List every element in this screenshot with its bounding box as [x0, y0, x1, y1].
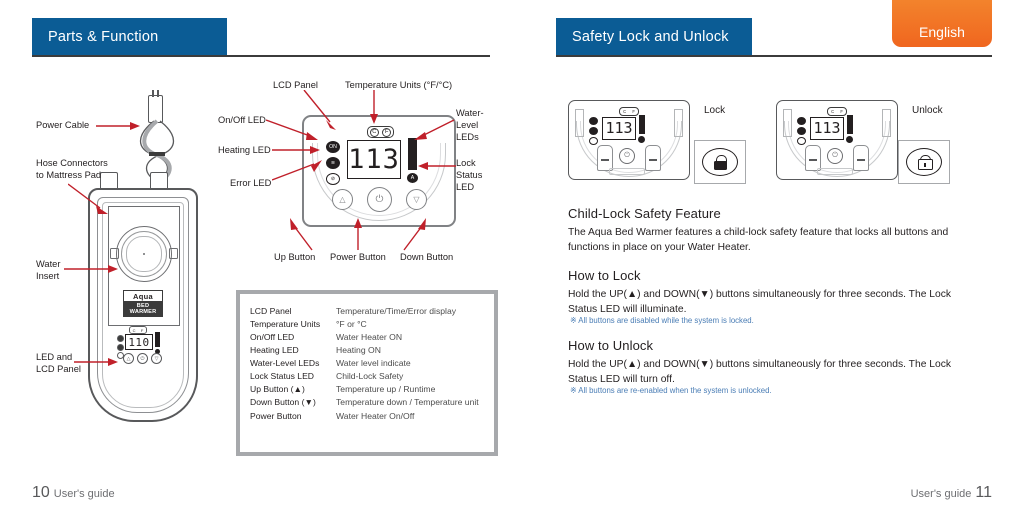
- status-led-group: ON ≋ ⊘: [326, 141, 340, 189]
- unlock-panel-pad-right: [853, 145, 869, 171]
- mini-water-level-bar: [155, 332, 160, 347]
- unit-mini-panel: C F 110 △ ⏻ ▽: [117, 330, 169, 360]
- callout-lock-status-led: Lock Status LED: [456, 158, 482, 194]
- left-header-rule: [32, 55, 490, 57]
- body-how-to-lock: Hold the UP(▲) and DOWN(▼) buttons simul…: [568, 288, 982, 317]
- unit-celsius: C: [370, 128, 379, 137]
- legend-row: Water-Level LEDs Water level indicate: [250, 357, 486, 370]
- legend-description: °F or °C: [336, 318, 367, 331]
- unlock-unit-f: F: [840, 109, 843, 114]
- lcd-value: 113: [348, 146, 400, 173]
- water-level-led-bar: [408, 138, 417, 170]
- legend-description: Temperature/Time/Error display: [336, 305, 456, 318]
- heating-led: ≋: [326, 157, 340, 169]
- mini-unit-c: C: [133, 328, 136, 333]
- right-header-rule: [556, 55, 992, 57]
- legend-term: Temperature Units: [250, 318, 336, 331]
- right-header-title: Safety Lock and Unlock: [556, 29, 729, 45]
- arrow-temperature-units: [368, 90, 380, 126]
- padlock-open-icon: [918, 155, 931, 170]
- callout-on-off-led: On/Off LED: [218, 115, 266, 127]
- brand-name-bottom: BED WARMER: [123, 302, 163, 317]
- lock-state-panel: C F 113 ⏻: [568, 100, 690, 180]
- legend-term: Power Button: [250, 410, 336, 423]
- mini-on-off-led: [117, 335, 124, 342]
- heading-child-lock: Child-Lock Safety Feature: [568, 206, 721, 221]
- arrow-power-cable: [96, 118, 142, 134]
- brand-logo: Aqua BED WARMER: [123, 290, 163, 317]
- legend-description: Water Heater On/Off: [336, 410, 414, 423]
- lock-unit-c: C: [623, 109, 626, 114]
- legend-description: Child-Lock Safety: [336, 370, 403, 383]
- callout-up-button: Up Button: [274, 252, 315, 264]
- lock-panel-lcd-value: 113: [605, 121, 632, 136]
- callout-temperature-units: Temperature Units (°F/°C): [345, 80, 452, 92]
- error-led: ⊘: [326, 173, 340, 185]
- legend-description: Temperature down / Temperature unit: [336, 396, 479, 409]
- callout-water-insert: Water Insert: [36, 259, 60, 283]
- down-button[interactable]: ▽: [406, 189, 427, 210]
- arrow-up-button: [288, 218, 318, 252]
- unlock-panel-lock-led: [846, 136, 853, 143]
- legend-row: Temperature Units °F or °C: [250, 318, 486, 331]
- note-how-to-lock: ※ All buttons are disabled while the sys…: [570, 316, 984, 326]
- power-button[interactable]: ⏻: [367, 187, 392, 212]
- unlock-panel-on-off-led: [797, 117, 806, 125]
- callout-heating-led: Heating LED: [218, 145, 271, 157]
- mini-unit-f: F: [141, 328, 143, 333]
- legend-term: LCD Panel: [250, 305, 336, 318]
- legend-term: On/Off LED: [250, 331, 336, 344]
- lock-panel-heating-led: [589, 127, 598, 135]
- mini-lock-icon-right: [169, 248, 178, 259]
- arrow-led-lcd-panel: [74, 356, 120, 368]
- heading-how-to-unlock: How to Unlock: [568, 338, 653, 353]
- callout-water-level-leds: Water- Level LEDs: [456, 108, 484, 144]
- body-child-lock: The Aqua Bed Warmer features a child-loc…: [568, 226, 982, 255]
- lock-panel-led-group: [589, 117, 598, 147]
- lock-icon-box: [694, 140, 746, 184]
- unlock-icon-box: [898, 140, 950, 184]
- right-footer-label: User's guide: [911, 488, 972, 500]
- arrow-hose-connectors: [68, 182, 116, 218]
- up-button[interactable]: △: [332, 189, 353, 210]
- language-tab[interactable]: English: [892, 0, 992, 47]
- arrow-water-insert: [64, 263, 120, 275]
- unlock-panel-heating-led: [797, 127, 806, 135]
- mini-lcd-value: 110: [128, 337, 149, 348]
- arrow-on-off-led: [266, 118, 324, 144]
- mini-lcd-panel: 110: [125, 334, 153, 350]
- water-heater-body: Aqua BED WARMER C F 110: [88, 188, 198, 422]
- left-page: Parts & Function: [0, 0, 500, 524]
- unlock-panel-lcd: 113: [810, 117, 844, 140]
- parts-legend-table: LCD Panel Temperature/Time/Error display…: [236, 290, 498, 456]
- padlock-closed-icon: [714, 155, 727, 170]
- unlock-panel-lcd-value: 113: [813, 121, 840, 136]
- callout-down-button: Down Button: [400, 252, 453, 264]
- left-section-header: Parts & Function: [32, 18, 227, 56]
- legend-row: Heating LED Heating ON: [250, 344, 486, 357]
- left-header-title: Parts & Function: [32, 29, 158, 45]
- lock-panel-on-off-led: [589, 117, 598, 125]
- legend-term: Water-Level LEDs: [250, 357, 336, 370]
- legend-row: On/Off LED Water Heater ON: [250, 331, 486, 344]
- legend-row: Lock Status LED Child-Lock Safety: [250, 370, 486, 383]
- callout-power-cable: Power Cable: [36, 120, 89, 132]
- legend-term: Lock Status LED: [250, 370, 336, 383]
- legend-description: Water Heater ON: [336, 331, 402, 344]
- lock-label: Lock: [704, 105, 725, 116]
- note-how-to-unlock: ※ All buttons are re-enabled when the sy…: [570, 386, 984, 396]
- lock-status-led: A: [407, 173, 418, 183]
- left-page-number: 10: [32, 484, 50, 502]
- temperature-units-indicator: C F: [367, 126, 394, 138]
- legend-description: Water level indicate: [336, 357, 411, 370]
- arrow-heating-led: [272, 144, 324, 156]
- legend-row: Power Button Water Heater On/Off: [250, 410, 486, 423]
- on-off-led: ON: [326, 141, 340, 153]
- lock-unit-f: F: [632, 109, 635, 114]
- mini-up-button: △: [123, 353, 134, 364]
- unlock-panel-led-group: [797, 117, 806, 147]
- arrow-water-level-leds: [414, 118, 458, 142]
- unlock-panel-water-bar: [847, 115, 853, 134]
- unlock-panel-error-led: [797, 137, 806, 145]
- lock-panel-pad-right: [645, 145, 661, 171]
- unlock-panel-temp-units: C F: [827, 107, 847, 116]
- left-footer-label: User's guide: [54, 488, 115, 500]
- unlock-state-panel: C F 113 ⏻: [776, 100, 898, 180]
- mini-down-button: ▽: [151, 353, 162, 364]
- lock-panel-lock-led: [638, 136, 645, 143]
- unit-fahrenheit: F: [382, 128, 391, 137]
- lcd-panel: 113: [347, 140, 401, 179]
- mini-power-button: ⏻: [137, 353, 148, 364]
- right-section-header: Safety Lock and Unlock: [556, 18, 752, 56]
- callout-power-button: Power Button: [330, 252, 386, 264]
- lock-panel-error-led: [589, 137, 598, 145]
- unlock-unit-c: C: [831, 109, 834, 114]
- legend-term: Up Button (▲): [250, 383, 336, 396]
- mini-heating-led: [117, 344, 124, 351]
- right-page: Safety Lock and Unlock English C F 113 ⏻…: [524, 0, 1024, 524]
- legend-description: Temperature up / Runtime: [336, 383, 435, 396]
- body-how-to-unlock: Hold the UP(▲) and DOWN(▼) buttons simul…: [568, 358, 982, 387]
- left-page-footer: 10 User's guide: [32, 484, 115, 502]
- legend-row: Down Button (▼) Temperature down / Tempe…: [250, 396, 486, 409]
- legend-row: Up Button (▲) Temperature up / Runtime: [250, 383, 486, 396]
- unlock-panel-power-button: ⏻: [827, 148, 843, 164]
- right-page-number: 11: [975, 484, 992, 502]
- legend-term: Down Button (▼): [250, 396, 336, 409]
- button-group: △ ⏻ ▽: [332, 187, 427, 212]
- legend-description: Heating ON: [336, 344, 381, 357]
- lock-panel-power-button: ⏻: [619, 148, 635, 164]
- legend-term: Heating LED: [250, 344, 336, 357]
- right-page-footer: User's guide 11: [911, 484, 992, 502]
- mini-temp-units: C F: [129, 326, 147, 334]
- brand-name-top: Aqua: [123, 290, 163, 302]
- lock-panel-lcd: 113: [602, 117, 636, 140]
- heading-how-to-lock: How to Lock: [568, 268, 641, 283]
- unlock-label: Unlock: [912, 105, 943, 116]
- arrow-power-button: [352, 218, 364, 252]
- arrow-down-button: [398, 218, 428, 252]
- mini-lock-icon-left: [110, 248, 119, 259]
- language-tab-label: English: [919, 24, 965, 47]
- arrow-lock-status-led: [418, 160, 458, 172]
- lock-panel-water-bar: [639, 115, 645, 134]
- arrow-error-led: [272, 158, 324, 184]
- callout-hose-connectors: Hose Connectors to Mattress Pad: [36, 158, 108, 182]
- water-insert-port: [116, 226, 172, 282]
- lock-panel-temp-units: C F: [619, 107, 639, 116]
- mini-button-group: △ ⏻ ▽: [123, 353, 162, 364]
- legend-row: LCD Panel Temperature/Time/Error display: [250, 305, 486, 318]
- callout-error-led: Error LED: [230, 178, 271, 190]
